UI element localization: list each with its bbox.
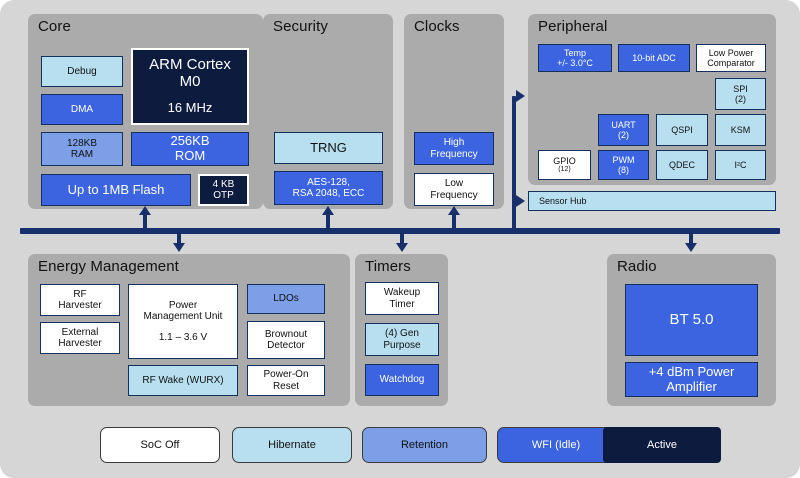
bus-arrow-core (139, 206, 151, 215)
block-uart-count: (2) (618, 130, 629, 140)
block-ldos-label: LDOs (273, 293, 299, 304)
panel-core: Core Debug DMA ARM Cortex M0 16 MHz 128K… (28, 14, 263, 209)
block-pwm-label: PWM (613, 155, 635, 165)
block-power-amplifier-line2: Amplifier (666, 380, 717, 395)
legend-item-hibernate[interactable]: Hibernate (232, 427, 352, 463)
block-low-frequency-line1: Low (445, 178, 463, 189)
block-temp-sensor-line1: Temp (564, 48, 586, 58)
block-uart-label: UART (611, 120, 635, 130)
block-temp-sensor-line2: +/- 3.0°C (557, 58, 593, 68)
block-crypto[interactable]: AES-128, RSA 2048, ECC (274, 171, 383, 205)
block-power-on-reset-line1: Power-On (263, 369, 308, 380)
block-dma-label: DMA (71, 104, 93, 115)
block-crypto-line1: AES-128, (307, 177, 350, 188)
block-rf-wake-label: RF Wake (WURX) (142, 375, 223, 386)
block-otp-label: OTP (213, 190, 234, 201)
block-qdec-label: QDEC (669, 160, 695, 170)
legend-item-retention-label: Retention (401, 439, 448, 451)
bus-arrow-security (322, 206, 334, 215)
legend-item-soc-off-label: SoC Off (141, 439, 180, 451)
panel-clocks-title: Clocks (414, 18, 460, 35)
block-dma[interactable]: DMA (41, 94, 123, 125)
panel-security: Security TRNG AES-128, RSA 2048, ECC (263, 14, 393, 209)
block-rom-label: ROM (175, 149, 205, 164)
panel-radio: Radio BT 5.0 +4 dBm Power Amplifier (607, 254, 776, 406)
block-power-on-reset[interactable]: Power-On Reset (247, 365, 325, 396)
panel-clocks: Clocks High Frequency Low Frequency (404, 14, 504, 209)
block-high-frequency-line1: High (444, 137, 465, 148)
block-pwm[interactable]: PWM (8) (598, 150, 649, 180)
block-crypto-line2: RSA 2048, ECC (293, 188, 365, 199)
block-power-on-reset-line2: Reset (273, 381, 299, 392)
bus-stem-clocks (452, 214, 456, 230)
block-rf-harvester-line1: RF (73, 289, 86, 300)
block-pmu-line2: Management Unit (144, 311, 223, 322)
block-external-harvester[interactable]: External Harvester (40, 322, 120, 354)
block-low-power-comparator[interactable]: Low Power Comparator (696, 44, 766, 72)
panel-radio-title: Radio (617, 258, 657, 275)
block-bluetooth[interactable]: BT 5.0 (625, 284, 758, 356)
legend-item-wfi-idle[interactable]: WFI (Idle) (497, 427, 615, 463)
panel-security-title: Security (273, 18, 328, 35)
block-rom-size: 256KB (170, 134, 209, 149)
block-low-frequency[interactable]: Low Frequency (414, 173, 494, 206)
bus-arrow-energy (173, 243, 185, 252)
block-rf-wake[interactable]: RF Wake (WURX) (128, 365, 238, 396)
block-gpio-count: (12) (558, 166, 570, 174)
block-brownout-line2: Detector (267, 340, 305, 351)
bus-riser-peripheral (512, 96, 516, 232)
block-cpu-clock: 16 MHz (168, 101, 213, 116)
block-sensor-hub[interactable]: Sensor Hub (528, 191, 776, 211)
block-qdec[interactable]: QDEC (656, 150, 708, 180)
block-uart[interactable]: UART (2) (598, 114, 649, 146)
block-trng-label: TRNG (310, 141, 347, 156)
block-gen-purpose-line1: (4) Gen (385, 328, 419, 339)
bus-arrow-peripheral-in (516, 90, 525, 102)
block-watchdog[interactable]: Watchdog (365, 364, 439, 396)
block-rf-harvester-line2: Harvester (58, 300, 101, 311)
block-flash-label: Up to 1MB Flash (68, 183, 165, 198)
block-ram[interactable]: 128KB RAM (41, 132, 123, 166)
block-sensor-hub-label: Sensor Hub (539, 196, 587, 206)
bus-arrow-clocks (448, 206, 460, 215)
block-ksm-label: KSM (731, 125, 751, 135)
block-gpio-label: GPIO (553, 156, 576, 166)
bus-arrow-sensor-hub-in (516, 195, 525, 207)
block-comparator-line1: Low Power (709, 48, 754, 58)
block-ldos[interactable]: LDOs (247, 284, 325, 314)
block-external-harvester-line2: Harvester (58, 338, 101, 349)
panel-peripheral: Peripheral Temp +/- 3.0°C 10-bit ADC Low… (528, 14, 776, 185)
panel-timers-title: Timers (365, 258, 411, 275)
bus-arrow-radio (685, 243, 697, 252)
block-brownout-detector[interactable]: Brownout Detector (247, 321, 325, 359)
legend-item-active[interactable]: Active (603, 427, 721, 463)
block-otp[interactable]: 4 KB OTP (198, 174, 249, 206)
legend-item-wfi-idle-label: WFI (Idle) (532, 439, 580, 451)
legend-item-active-label: Active (647, 439, 677, 451)
block-flash[interactable]: Up to 1MB Flash (41, 174, 191, 206)
block-general-purpose-timers[interactable]: (4) Gen Purpose (365, 323, 439, 356)
block-cpu-model: M0 (135, 74, 245, 91)
block-low-frequency-line2: Frequency (430, 190, 477, 201)
panel-core-title: Core (38, 18, 71, 35)
block-watchdog-label: Watchdog (380, 374, 425, 385)
bus-stem-security (326, 214, 330, 230)
panel-energy-management: Energy Management RF Harvester External … (28, 254, 350, 406)
block-otp-size: 4 KB (213, 179, 235, 190)
block-debug[interactable]: Debug (41, 56, 123, 87)
block-external-harvester-line1: External (62, 327, 99, 338)
block-high-frequency-line2: Frequency (430, 149, 477, 160)
block-cpu-name: ARM Cortex (135, 57, 245, 74)
block-power-management-unit[interactable]: Power Management Unit 1.1 – 3.6 V (128, 284, 238, 359)
block-i2c-label: I²C (735, 160, 747, 170)
block-debug-label: Debug (67, 66, 96, 77)
block-pmu-line1: Power (169, 300, 197, 311)
block-spi-count: (2) (735, 94, 746, 104)
block-temp-sensor[interactable]: Temp +/- 3.0°C (538, 44, 612, 72)
block-gpio[interactable]: GPIO (12) (538, 150, 591, 180)
block-ram-label: RAM (71, 149, 93, 160)
block-rom[interactable]: 256KB ROM (131, 132, 249, 166)
block-power-amplifier-line1: +4 dBm Power (649, 365, 735, 380)
block-adc-label: 10-bit ADC (632, 53, 676, 63)
panel-energy-management-title: Energy Management (38, 258, 179, 275)
block-i2c[interactable]: I²C (715, 150, 766, 180)
block-brownout-line1: Brownout (265, 329, 307, 340)
block-qspi-label: QSPI (671, 125, 693, 135)
block-high-frequency[interactable]: High Frequency (414, 132, 494, 165)
legend-item-hibernate-label: Hibernate (268, 439, 316, 451)
legend-item-soc-off[interactable]: SoC Off (100, 427, 220, 463)
block-pmu-voltage: 1.1 – 3.6 V (159, 332, 207, 343)
block-trng[interactable]: TRNG (274, 132, 383, 164)
block-adc[interactable]: 10-bit ADC (618, 44, 690, 72)
block-wakeup-timer-line1: Wakeup (384, 287, 420, 298)
block-wakeup-timer-line2: Timer (389, 299, 414, 310)
soc-block-diagram: Core Debug DMA ARM Cortex M0 16 MHz 128K… (0, 0, 800, 478)
block-cpu[interactable]: ARM Cortex M0 16 MHz (131, 48, 249, 125)
bus-stem-core (143, 214, 147, 230)
block-qspi[interactable]: QSPI (656, 114, 708, 146)
block-ram-size: 128KB (67, 138, 97, 149)
block-rf-harvester[interactable]: RF Harvester (40, 284, 120, 316)
block-comparator-line2: Comparator (707, 58, 755, 68)
block-wakeup-timer[interactable]: Wakeup Timer (365, 282, 439, 315)
block-pwm-count: (8) (618, 165, 629, 175)
panel-timers: Timers Wakeup Timer (4) Gen Purpose Watc… (355, 254, 448, 406)
bus-arrow-timers (396, 243, 408, 252)
block-spi[interactable]: SPI (2) (715, 78, 766, 110)
block-spi-label: SPI (733, 84, 748, 94)
legend-item-retention[interactable]: Retention (362, 427, 487, 463)
block-bluetooth-label: BT 5.0 (670, 312, 714, 329)
panel-peripheral-title: Peripheral (538, 18, 607, 35)
block-power-amplifier[interactable]: +4 dBm Power Amplifier (625, 362, 758, 397)
block-ksm[interactable]: KSM (715, 114, 766, 146)
block-gen-purpose-line2: Purpose (383, 340, 420, 351)
